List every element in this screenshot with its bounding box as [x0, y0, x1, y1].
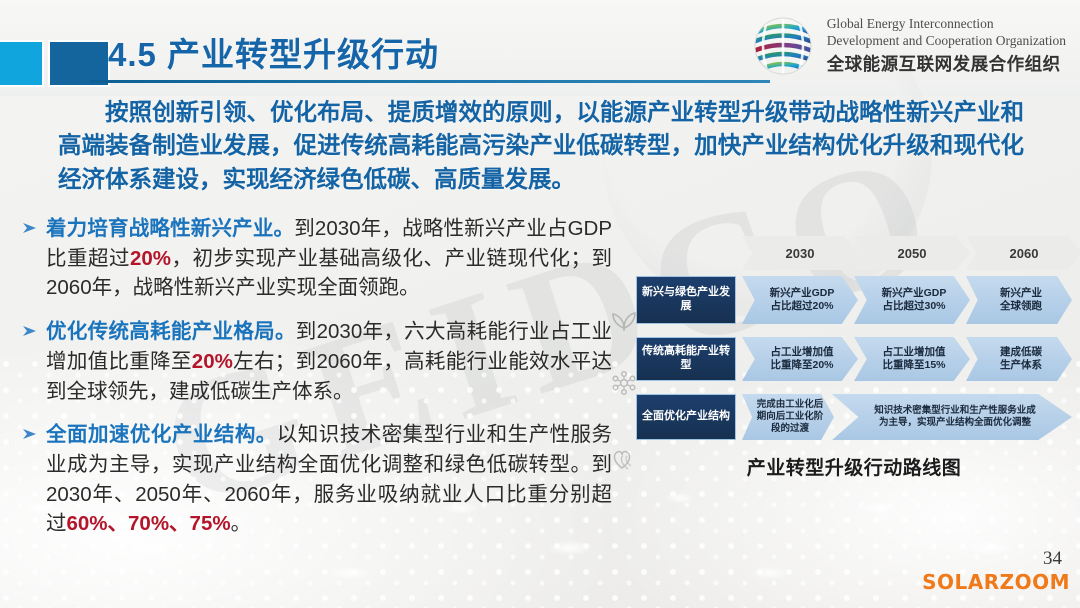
organization-logo: Global Energy Interconnection Developmen… [749, 12, 1066, 80]
bullet-highlight-1: 20% [130, 247, 171, 270]
roadmap-row-traditional-energy: 传统高耗能产业转型 占工业增加值 比重降至20% 占工业增加值 比重降至15% … [636, 337, 1072, 381]
page-title: 4.5 产业转型升级行动 [108, 28, 439, 76]
bullet-heading: 优化传统高耗能产业格局。 [46, 320, 296, 343]
roadmap-cell: 知识技术密集型行业和生产性服务业成 为主导，实现产业结构全面优化调整 [832, 394, 1072, 440]
roadmap-cell: 完成由工业化后 期向后工业化阶 段的过渡 [742, 394, 834, 440]
roadmap-cell: 新兴产业 全球领跑 [966, 276, 1072, 324]
leaf-icon [611, 306, 637, 332]
logo-chinese-name: 全球能源互联网发展合作组织 [827, 51, 1066, 76]
arrow-bullet-icon [22, 221, 37, 235]
roadmap-year-header: 2030 2050 2060 [742, 236, 1072, 270]
year-chip-2030: 2030 [742, 236, 858, 270]
arrow-bullet-icon [22, 324, 37, 338]
intro-paragraph: 按照创新引领、优化布局、提质增效的原则，以能源产业转型升级带动战略性新兴产业和高… [58, 96, 1024, 196]
roadmap-cell: 占工业增加值 比重降至20% [742, 337, 858, 381]
roadmap-row-label: 全面优化产业结构 [636, 394, 736, 440]
roadmap-row-label: 传统高耗能产业转型 [636, 337, 736, 381]
roadmap-caption: 产业转型升级行动路线图 [636, 453, 1072, 480]
roadmap-diagram: 2030 2050 2060 新兴与绿色产业发展 新兴产业GDP 占比超过20%… [636, 236, 1072, 480]
bullet-highlight-1: 20% [192, 350, 233, 373]
roadmap-cell: 占工业增加值 比重降至15% [854, 337, 970, 381]
bullet-text-2: 。 [231, 512, 252, 535]
roadmap-row-emerging-green: 新兴与绿色产业发展 新兴产业GDP 占比超过20% 新兴产业GDP 占比超过30… [636, 276, 1072, 324]
header-square-light [0, 40, 44, 87]
logo-text-block: Global Energy Interconnection Developmen… [827, 16, 1066, 76]
roadmap-cell: 新兴产业GDP 占比超过20% [742, 276, 858, 324]
list-item: 全面加速优化产业结构。以知识技术密集型行业和生产性服务业成为主导，实现产业结构全… [22, 420, 612, 539]
globe-grid-logo-icon [749, 12, 817, 80]
roadmap-row-structure-optimization: 全面优化产业结构 完成由工业化后 期向后工业化阶 段的过渡 知识技术密集型行业和… [636, 394, 1072, 440]
interlock-hearts-icon [611, 446, 637, 472]
solarzoom-watermark: SOLARZOOM [922, 570, 1070, 594]
list-item: 优化传统高耗能产业格局。到2030年，六大高耗能行业占工业增加值比重降至20%左… [22, 317, 612, 406]
arrow-bullet-icon [22, 427, 37, 441]
page-number: 34 [1043, 548, 1062, 570]
roadmap-cell: 新兴产业GDP 占比超过30% [854, 276, 970, 324]
list-item: 着力培育战略性新兴产业。到2030年，战略性新兴产业占GDP比重超过20%，初步… [22, 214, 612, 303]
year-chip-2060: 2060 [966, 236, 1080, 270]
roadmap-cell: 建成低碳 生产体系 [966, 337, 1072, 381]
roadmap-row-label: 新兴与绿色产业发展 [636, 276, 736, 324]
logo-english-line-2: Development and Cooperation Organization [827, 33, 1066, 49]
year-chip-2050: 2050 [854, 236, 970, 270]
title-divider [90, 80, 770, 83]
logo-english-line-1: Global Energy Interconnection [827, 16, 1066, 32]
atom-icon [611, 370, 637, 396]
bullet-heading: 全面加速优化产业结构。 [46, 423, 277, 446]
bullet-highlight-1: 60%、70%、75% [67, 512, 231, 535]
bullet-heading: 着力培育战略性新兴产业。 [46, 217, 294, 240]
bullet-list: 着力培育战略性新兴产业。到2030年，战略性新兴产业占GDP比重超过20%，初步… [22, 214, 612, 553]
